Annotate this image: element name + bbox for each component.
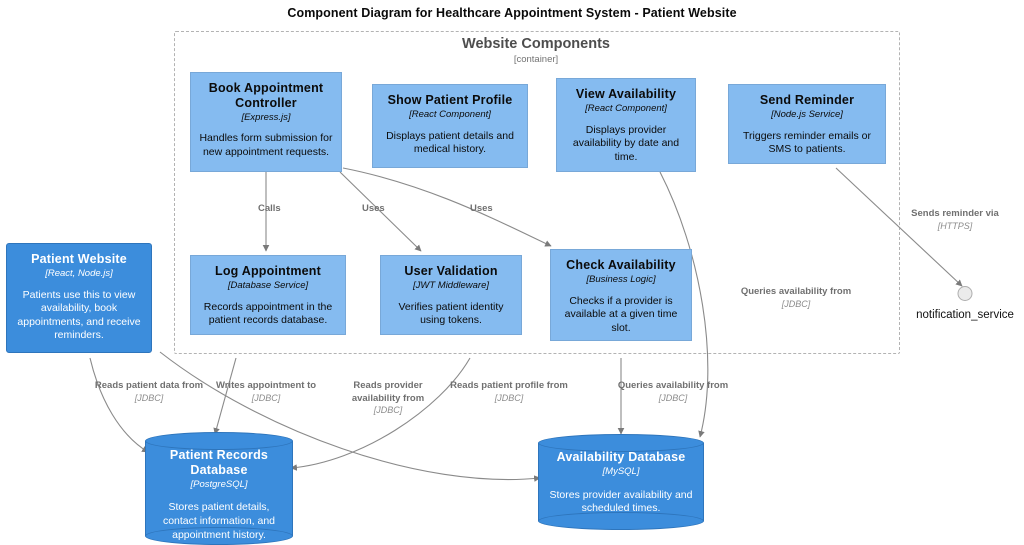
diagram-canvas: Component Diagram for Healthcare Appoint… <box>0 0 1024 545</box>
edge-label-queries-availability-from-right: Queries availability from [JDBC] <box>740 274 852 323</box>
edge-label-queries-availability-from: Queries availability from [JDBC] <box>614 368 732 417</box>
edge-label-writes-appointment-to: Writes appointment to [JDBC] <box>212 368 320 417</box>
node-tech: [MySQL] <box>603 466 640 478</box>
container-title: Website Components <box>174 36 898 52</box>
node-notification-service[interactable]: notification_service <box>915 286 1015 326</box>
node-title: Patient Records Database <box>153 448 285 478</box>
edge-label-text: Reads provider availability from <box>352 380 424 403</box>
edge-label-text: Writes appointment to <box>216 380 316 391</box>
node-tech: [Node.js Service] <box>771 109 843 121</box>
edge-label-tech: [JDBC] <box>336 405 440 417</box>
edge-label-text: Reads patient data from <box>95 380 203 391</box>
node-tech: [Business Logic] <box>586 274 655 286</box>
node-description: Triggers reminder emails or SMS to patie… <box>736 130 878 157</box>
node-description: Records appointment in the patient recor… <box>198 301 338 328</box>
node-tech: [React Component] <box>585 103 667 115</box>
database-content: Patient Records Database [PostgreSQL] St… <box>145 432 293 545</box>
node-description: Handles form submission for new appointm… <box>198 132 334 159</box>
node-description: Displays provider availability by date a… <box>564 124 688 164</box>
node-tech: [React, Node.js] <box>45 268 113 280</box>
node-description: Stores provider availability and schedul… <box>546 489 696 516</box>
node-description: Checks if a provider is available at a g… <box>558 295 684 335</box>
edge-label-uses-1: Uses <box>362 203 422 215</box>
node-tech: [React Component] <box>409 109 491 121</box>
node-show-patient-profile[interactable]: Show Patient Profile [React Component] D… <box>372 84 528 168</box>
edge-label-tech: [JDBC] <box>614 393 732 405</box>
edge-label-tech: [JDBC] <box>450 393 568 405</box>
node-title: Book Appointment Controller <box>198 81 334 111</box>
edge-label-reads-patient-data-from: Reads patient data from [JDBC] <box>94 368 204 417</box>
edge-label-text: Queries availability from <box>741 286 851 297</box>
edge-label-text: Queries availability from <box>618 380 728 391</box>
edge-label-tech: [JDBC] <box>212 393 320 405</box>
node-description: Displays patient details and medical his… <box>380 130 520 157</box>
node-title: Send Reminder <box>760 93 854 108</box>
edge-label-tech: [JDBC] <box>740 299 852 311</box>
node-patient-records-database[interactable]: Patient Records Database [PostgreSQL] St… <box>145 432 293 545</box>
edge-label-text: Reads patient profile from <box>450 380 568 391</box>
node-user-validation[interactable]: User Validation [JWT Middleware] Verifie… <box>380 255 522 335</box>
node-tech: [Express.js] <box>241 112 290 124</box>
node-title: Patient Website <box>31 252 127 267</box>
node-description: Stores patient details, contact informat… <box>153 501 285 542</box>
circle-icon <box>958 286 973 301</box>
node-tech: [JWT Middleware] <box>413 280 489 292</box>
node-check-availability[interactable]: Check Availability [Business Logic] Chec… <box>550 249 692 341</box>
node-book-appointment-controller[interactable]: Book Appointment Controller [Express.js]… <box>190 72 342 172</box>
edge-label-uses-2: Uses <box>470 203 530 215</box>
edge-label-tech: [JDBC] <box>94 393 204 405</box>
node-title: Log Appointment <box>215 264 321 279</box>
node-view-availability[interactable]: View Availability [React Component] Disp… <box>556 78 696 172</box>
edge-label-calls: Calls <box>258 203 318 215</box>
node-title: User Validation <box>404 264 497 279</box>
node-tech: [PostgreSQL] <box>190 479 247 491</box>
node-description: Verifies patient identity using tokens. <box>388 301 514 328</box>
node-title: Check Availability <box>566 258 676 273</box>
edge-label-reads-provider-availability-from: Reads provider availability from [JDBC] <box>336 368 440 429</box>
node-tech: [Database Service] <box>228 280 308 292</box>
database-content: Availability Database [MySQL] Stores pro… <box>538 434 704 530</box>
edge-label-tech: [HTTPS] <box>890 221 1020 233</box>
edge-label-reads-patient-profile-from: Reads patient profile from [JDBC] <box>450 368 568 417</box>
node-patient-website[interactable]: Patient Website [React, Node.js] Patient… <box>6 243 152 353</box>
container-subtitle: [container] <box>174 54 898 65</box>
edge-label-text: Sends reminder via <box>911 208 999 219</box>
node-title: View Availability <box>576 87 676 102</box>
node-description: Patients use this to view availability, … <box>14 289 144 343</box>
edge-label-sends-reminder-via: Sends reminder via [HTTPS] <box>890 196 1020 245</box>
node-availability-database[interactable]: Availability Database [MySQL] Stores pro… <box>538 434 704 530</box>
node-send-reminder[interactable]: Send Reminder [Node.js Service] Triggers… <box>728 84 886 164</box>
node-title: notification_service <box>916 309 1014 321</box>
node-log-appointment[interactable]: Log Appointment [Database Service] Recor… <box>190 255 346 335</box>
node-title: Availability Database <box>557 450 686 465</box>
node-title: Show Patient Profile <box>388 93 513 108</box>
page-title: Component Diagram for Healthcare Appoint… <box>0 6 1024 20</box>
